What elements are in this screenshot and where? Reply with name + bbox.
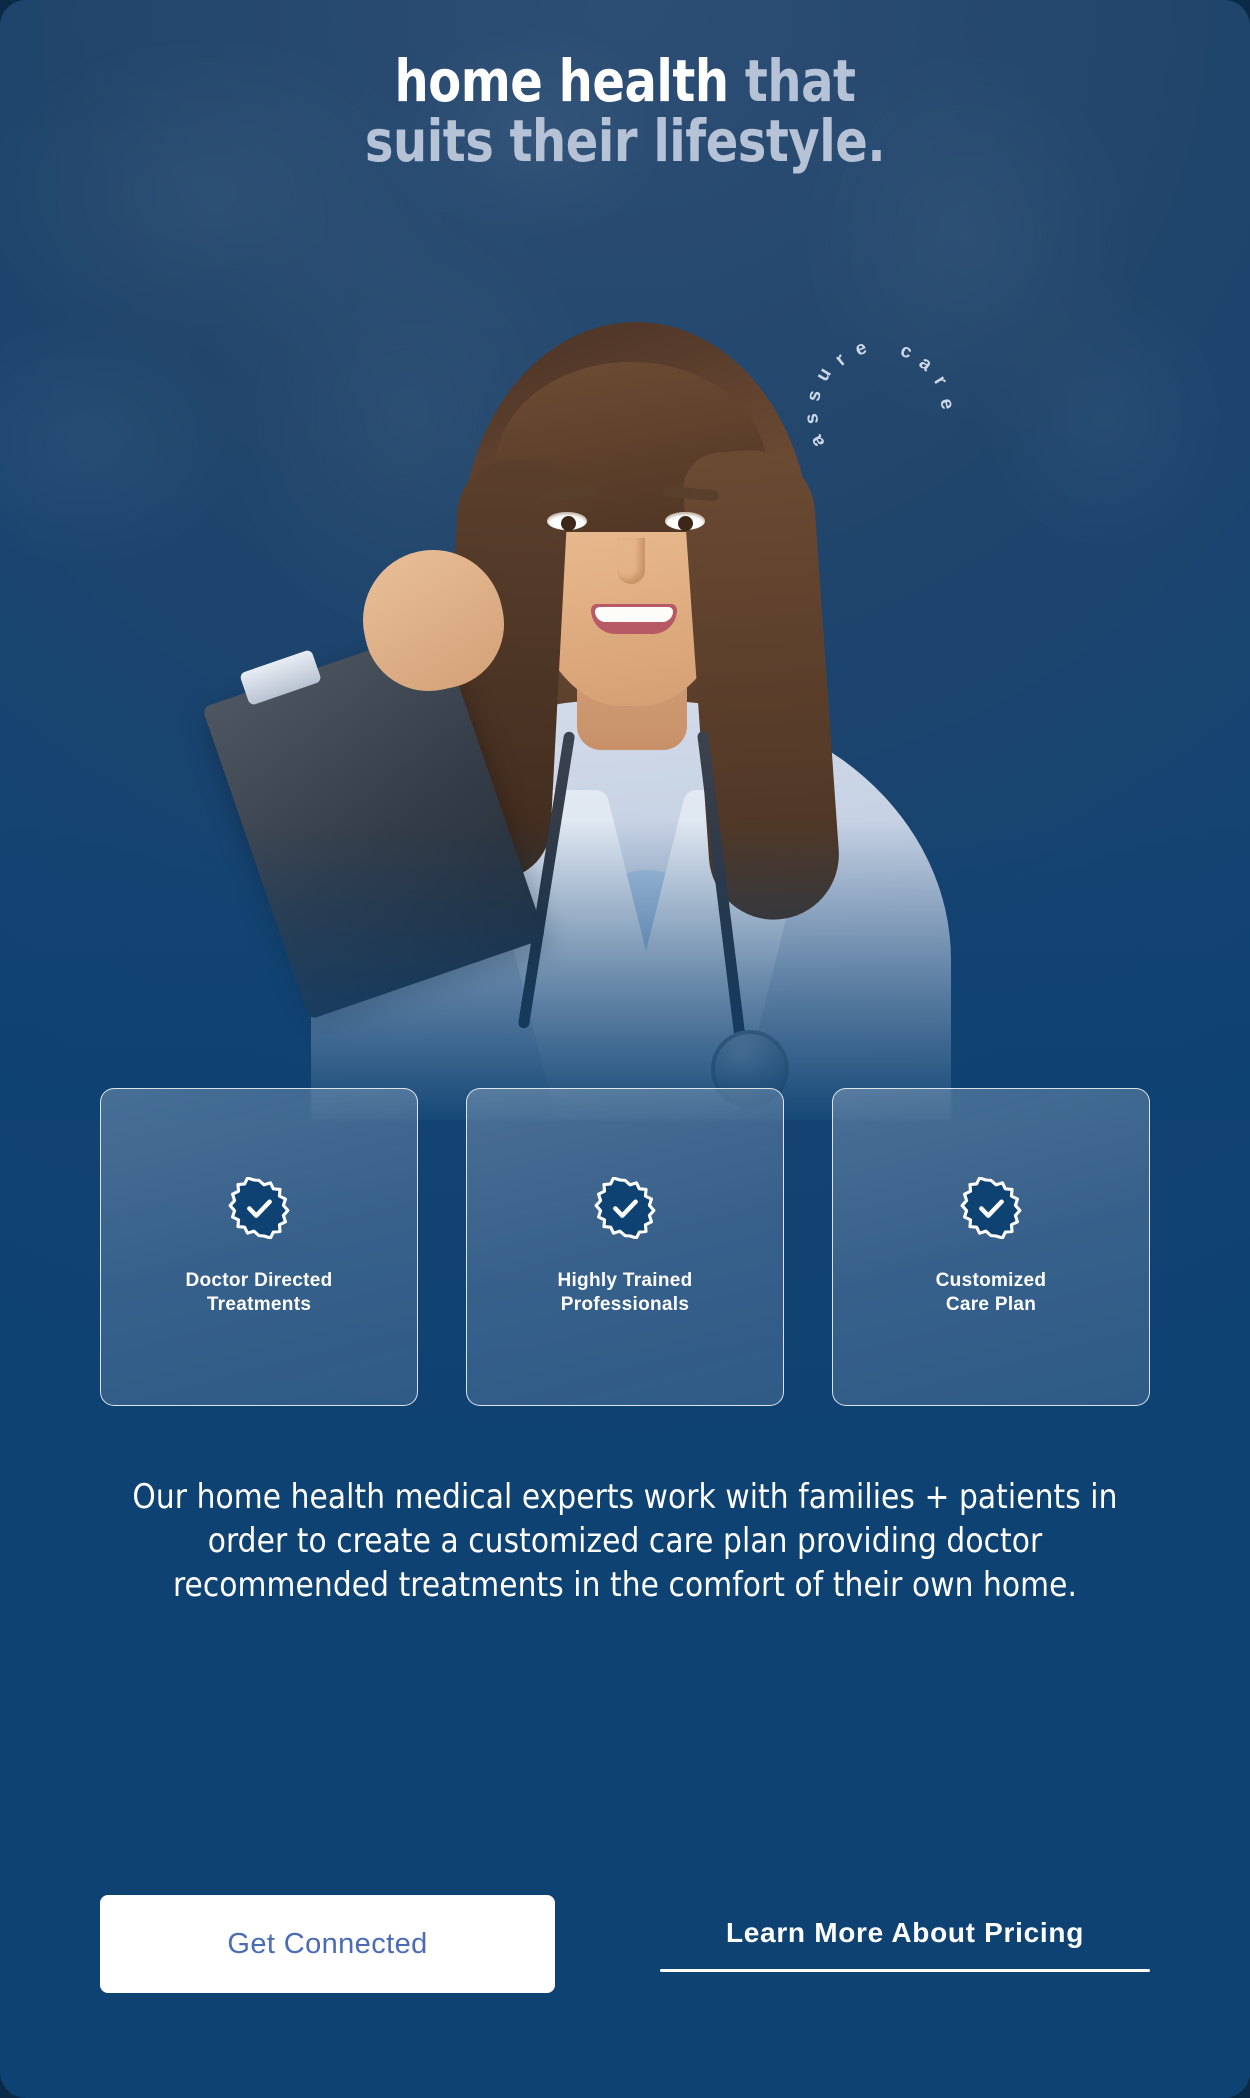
assure-care-letter: e (852, 337, 870, 361)
coat-lapel-left (474, 790, 688, 1120)
assure-care-letter: s (801, 412, 824, 426)
assure-care-letter: u (812, 364, 837, 385)
pupil-right (678, 516, 693, 531)
learn-more-about-pricing-link[interactable]: Learn More About Pricing (660, 1917, 1150, 1972)
verified-check-badge-icon (594, 1177, 656, 1239)
feature-card-list: Doctor Directed Treatments Highly Traine… (100, 1088, 1150, 1408)
hair-back (461, 322, 811, 842)
learn-more-underline (660, 1969, 1150, 1972)
hero-portrait (0, 300, 1250, 1120)
hair-left (438, 457, 570, 882)
portrait-bottom-fade (0, 820, 1250, 1120)
verified-check-badge-icon (960, 1177, 1022, 1239)
scrub-top (577, 870, 717, 1120)
eyebrow-left (541, 485, 598, 503)
lab-coat (311, 700, 951, 1120)
assure-care-letter: r (831, 349, 851, 371)
assure-care-letter: s (803, 389, 827, 404)
teeth (595, 607, 673, 622)
headline-line-1: home health that (50, 52, 1200, 112)
eye-left (547, 512, 587, 530)
assure-care-letter: a (806, 431, 830, 451)
get-connected-button[interactable]: Get Connected (100, 1895, 555, 1993)
face (517, 386, 745, 706)
feature-card-label: Customized Care Plan (936, 1269, 1047, 1318)
pupil-left (561, 516, 576, 531)
clipboard (202, 626, 546, 1019)
cta-row: Get Connected Learn More About Pricing (100, 1895, 1150, 1993)
body-paragraph: Our home health medical experts work wit… (111, 1475, 1139, 1608)
eyebrow-right (663, 485, 720, 502)
neck (577, 600, 687, 750)
headline-line-2: suits their lifestyle. (50, 112, 1200, 172)
nose (617, 538, 645, 584)
stethoscope-tube-left (518, 731, 576, 1029)
clipboard-clip (239, 649, 322, 706)
assure-care-circular-logo: assurecare (790, 330, 980, 520)
feature-card-customized-care-plan[interactable]: Customized Care Plan (832, 1088, 1150, 1406)
hand (350, 537, 516, 703)
coat-lapel-right (604, 790, 818, 1120)
hero-section: home health that suits their lifestyle. (0, 0, 1250, 2098)
feature-card-doctor-directed-treatments[interactable]: Doctor Directed Treatments (100, 1088, 418, 1406)
headline-soft-text-1: that (745, 47, 856, 115)
hair-front (495, 362, 767, 532)
assure-care-letter: e (934, 396, 958, 411)
verified-check-badge-icon (228, 1177, 290, 1239)
feature-card-highly-trained-professionals[interactable]: Highly Trained Professionals (466, 1088, 784, 1406)
assure-care-letter: c (897, 340, 914, 364)
stethoscope-tube-right (697, 731, 748, 1060)
eye-right (665, 512, 705, 530)
feature-card-label: Highly Trained Professionals (557, 1269, 692, 1318)
assure-care-letter: r (929, 372, 952, 390)
headline-strong-text: home health (394, 47, 744, 115)
mouth (591, 604, 677, 634)
feature-card-label: Doctor Directed Treatments (185, 1269, 332, 1318)
learn-more-label: Learn More About Pricing (726, 1917, 1084, 1949)
assure-care-letter: a (914, 353, 936, 377)
page-title: home health that suits their lifestyle. (50, 52, 1200, 171)
